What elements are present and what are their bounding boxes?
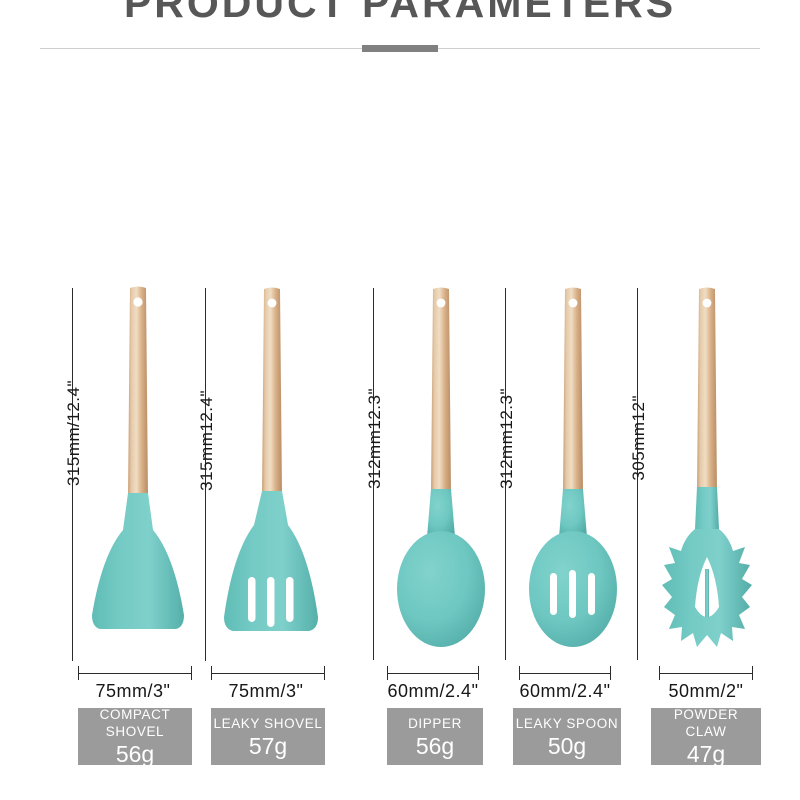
- width-measure-rule: [519, 666, 611, 680]
- product-weight: 56g: [116, 741, 154, 767]
- width-tick-left: [78, 666, 79, 680]
- width-tick-right: [478, 666, 479, 680]
- utensil-gallery: 315mm/12.4": [0, 285, 800, 705]
- product-name: LEAKY SHOVEL: [213, 715, 322, 732]
- info-box-leaky-shovel: LEAKY SHOVEL 57g: [211, 708, 325, 765]
- utensil-illustration-dipper: [389, 285, 493, 661]
- divider-center-bar: [362, 45, 438, 52]
- product-weight: 57g: [249, 733, 287, 759]
- page-title: PRODUCT PARAMETERS: [0, 0, 800, 27]
- width-label: 75mm/3": [199, 681, 333, 702]
- info-box-compact-shovel: COMPACT SHOVEL 56g: [78, 708, 192, 765]
- width-tick-left: [659, 666, 660, 680]
- product-name: POWDER CLAW: [653, 706, 759, 740]
- utensil-item-compact-shovel: 315mm/12.4": [72, 285, 192, 705]
- utensil-illustration-leaky-shovel: [217, 285, 325, 661]
- utensil-item-leaky-spoon: 312mm12.3": [505, 285, 625, 705]
- utensil-item-leaky-shovel: 315mm12.4": [205, 285, 325, 705]
- width-label: 60mm/2.4": [495, 681, 635, 702]
- width-tick-left: [387, 666, 388, 680]
- length-label: 305mm12": [629, 395, 651, 481]
- utensil-illustration-powder-claw: [655, 285, 759, 661]
- header: PRODUCT PARAMETERS: [0, 0, 800, 60]
- dipper-graphic: [389, 285, 493, 661]
- width-label: 60mm/2.4": [363, 681, 503, 702]
- width-measure-line: [78, 673, 192, 674]
- info-box-leaky-spoon: LEAKY SPOON 50g: [513, 708, 621, 765]
- width-label: 75mm/3": [66, 681, 200, 702]
- product-weight: 50g: [548, 733, 586, 759]
- width-tick-left: [211, 666, 212, 680]
- leaky-shovel-graphic: [217, 285, 325, 661]
- product-name: DIPPER: [408, 715, 462, 732]
- powder-claw-graphic: [655, 285, 759, 661]
- compact-shovel-graphic: [84, 285, 192, 661]
- width-tick-right: [610, 666, 611, 680]
- length-label: 315mm12.4": [197, 390, 219, 491]
- utensil-illustration-leaky-spoon: [521, 285, 625, 661]
- info-box-powder-claw: POWDER CLAW 47g: [651, 708, 761, 765]
- width-measure-rule: [78, 666, 192, 680]
- width-measure-line: [387, 673, 479, 674]
- length-label: 312mm12.3": [365, 388, 387, 489]
- utensil-illustration-compact-shovel: [84, 285, 192, 661]
- width-tick-left: [519, 666, 520, 680]
- utensil-item-dipper: 312mm12.3": [373, 285, 493, 705]
- width-label: 50mm/2": [639, 681, 773, 702]
- header-divider: [40, 45, 760, 52]
- width-measure-rule: [211, 666, 325, 680]
- width-measure-rule: [387, 666, 479, 680]
- product-name: LEAKY SPOON: [516, 715, 618, 732]
- product-weight: 56g: [416, 733, 454, 759]
- leaky-spoon-graphic: [521, 285, 625, 661]
- info-box-dipper: DIPPER 56g: [387, 708, 483, 765]
- product-name: COMPACT SHOVEL: [100, 706, 171, 740]
- product-weight: 47g: [687, 741, 725, 767]
- width-measure-rule: [659, 666, 753, 680]
- length-label: 312mm12.3": [497, 388, 519, 489]
- width-tick-right: [324, 666, 325, 680]
- utensil-item-powder-claw: 305mm12": [637, 285, 767, 705]
- width-measure-line: [211, 673, 325, 674]
- width-measure-line: [659, 673, 753, 674]
- width-measure-line: [519, 673, 611, 674]
- width-tick-right: [752, 666, 753, 680]
- width-tick-right: [191, 666, 192, 680]
- length-label: 315mm/12.4": [64, 380, 86, 486]
